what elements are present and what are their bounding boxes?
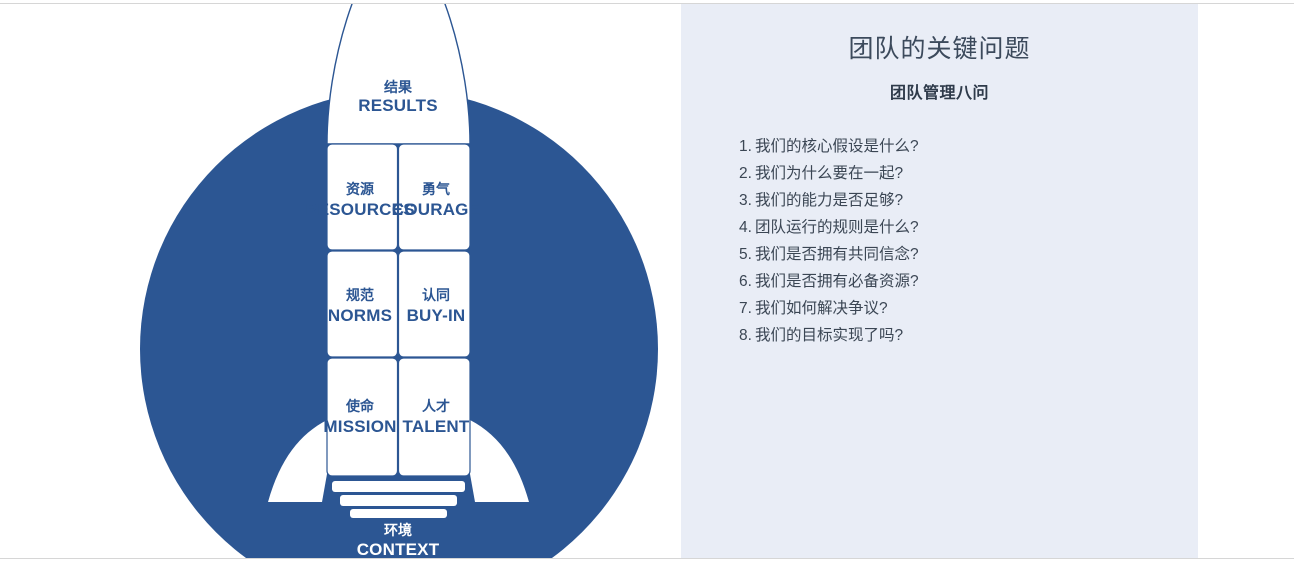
question-number: 3. — [739, 192, 752, 209]
question-number: 4. — [739, 219, 752, 236]
question-item: 6.我们是否拥有必备资源? — [681, 268, 1198, 295]
label-context-cn: 环境 — [384, 522, 412, 538]
label-norms-cn: 规范 — [346, 287, 374, 303]
label-context-en: CONTEXT — [357, 540, 440, 558]
question-item: 7.我们如何解决争议? — [681, 295, 1198, 322]
label-mission-cn: 使命 — [345, 398, 375, 414]
label-buyin-cn: 认同 — [422, 287, 450, 303]
label-mission-en: MISSION — [323, 417, 396, 436]
question-item: 1.我们的核心假设是什么? — [681, 133, 1198, 160]
rocket-block-buyin — [399, 251, 471, 357]
question-item: 2.我们为什么要在一起? — [681, 160, 1198, 187]
panel-title: 团队的关键问题 — [681, 4, 1198, 65]
question-list: 1.我们的核心假设是什么? 2.我们为什么要在一起? 3.我们的能力是否足够? … — [681, 103, 1198, 349]
question-text: 我们的目标实现了吗? — [755, 327, 903, 344]
rocket-nozzle-bar-1 — [332, 481, 465, 492]
rocket-nose-cone — [327, 4, 470, 144]
question-item: 3.我们的能力是否足够? — [681, 187, 1198, 214]
question-number: 5. — [739, 246, 752, 263]
question-item: 4.团队运行的规则是什么? — [681, 214, 1198, 241]
question-text: 我们的能力是否足够? — [755, 192, 903, 209]
label-results-en: RESULTS — [358, 96, 437, 115]
rocket-block-resources — [327, 144, 398, 250]
question-text: 我们如何解决争议? — [755, 300, 888, 317]
label-talent-cn: 人才 — [422, 398, 450, 414]
block-joint-dot-lower — [396, 355, 401, 360]
rocket-block-norms — [327, 251, 398, 357]
question-text: 我们是否拥有必备资源? — [755, 273, 919, 290]
rocket-nozzle-bar-2 — [340, 495, 457, 506]
question-number: 6. — [739, 273, 752, 290]
question-text: 我们为什么要在一起? — [755, 165, 903, 182]
rocket-diagram-panel: 结果 RESULTS 资源 RESOURCES 勇气 COURAGE 规范 NO… — [0, 4, 680, 558]
block-joint-dot-upper — [396, 248, 401, 253]
question-text: 我们是否拥有共同信念? — [755, 246, 919, 263]
question-number: 8. — [739, 327, 752, 344]
question-number: 1. — [739, 138, 752, 155]
label-buyin-en: BUY-IN — [407, 306, 466, 325]
question-number: 7. — [739, 300, 752, 317]
page-bottom-divider — [0, 558, 1294, 559]
question-text: 团队运行的规则是什么? — [755, 219, 919, 236]
question-item: 5.我们是否拥有共同信念? — [681, 241, 1198, 268]
question-number: 2. — [739, 165, 752, 182]
label-results-cn: 结果 — [384, 79, 413, 95]
label-norms-en: NORMS — [328, 306, 392, 325]
questions-panel: 团队的关键问题 团队管理八问 1.我们的核心假设是什么? 2.我们为什么要在一起… — [681, 4, 1198, 558]
label-courage-cn: 勇气 — [422, 181, 450, 197]
team-rocket-diagram: 结果 RESULTS 资源 RESOURCES 勇气 COURAGE 规范 NO… — [0, 4, 680, 558]
panel-subtitle: 团队管理八问 — [681, 65, 1198, 103]
question-item: 8.我们的目标实现了吗? — [681, 322, 1198, 349]
label-courage-en: COURAGE — [392, 200, 480, 219]
rocket-block-courage — [399, 144, 471, 250]
rocket-nozzle-bar-3 — [350, 509, 447, 518]
label-resources-cn: 资源 — [346, 181, 374, 197]
label-talent-en: TALENT — [403, 417, 470, 436]
question-text: 我们的核心假设是什么? — [755, 138, 919, 155]
